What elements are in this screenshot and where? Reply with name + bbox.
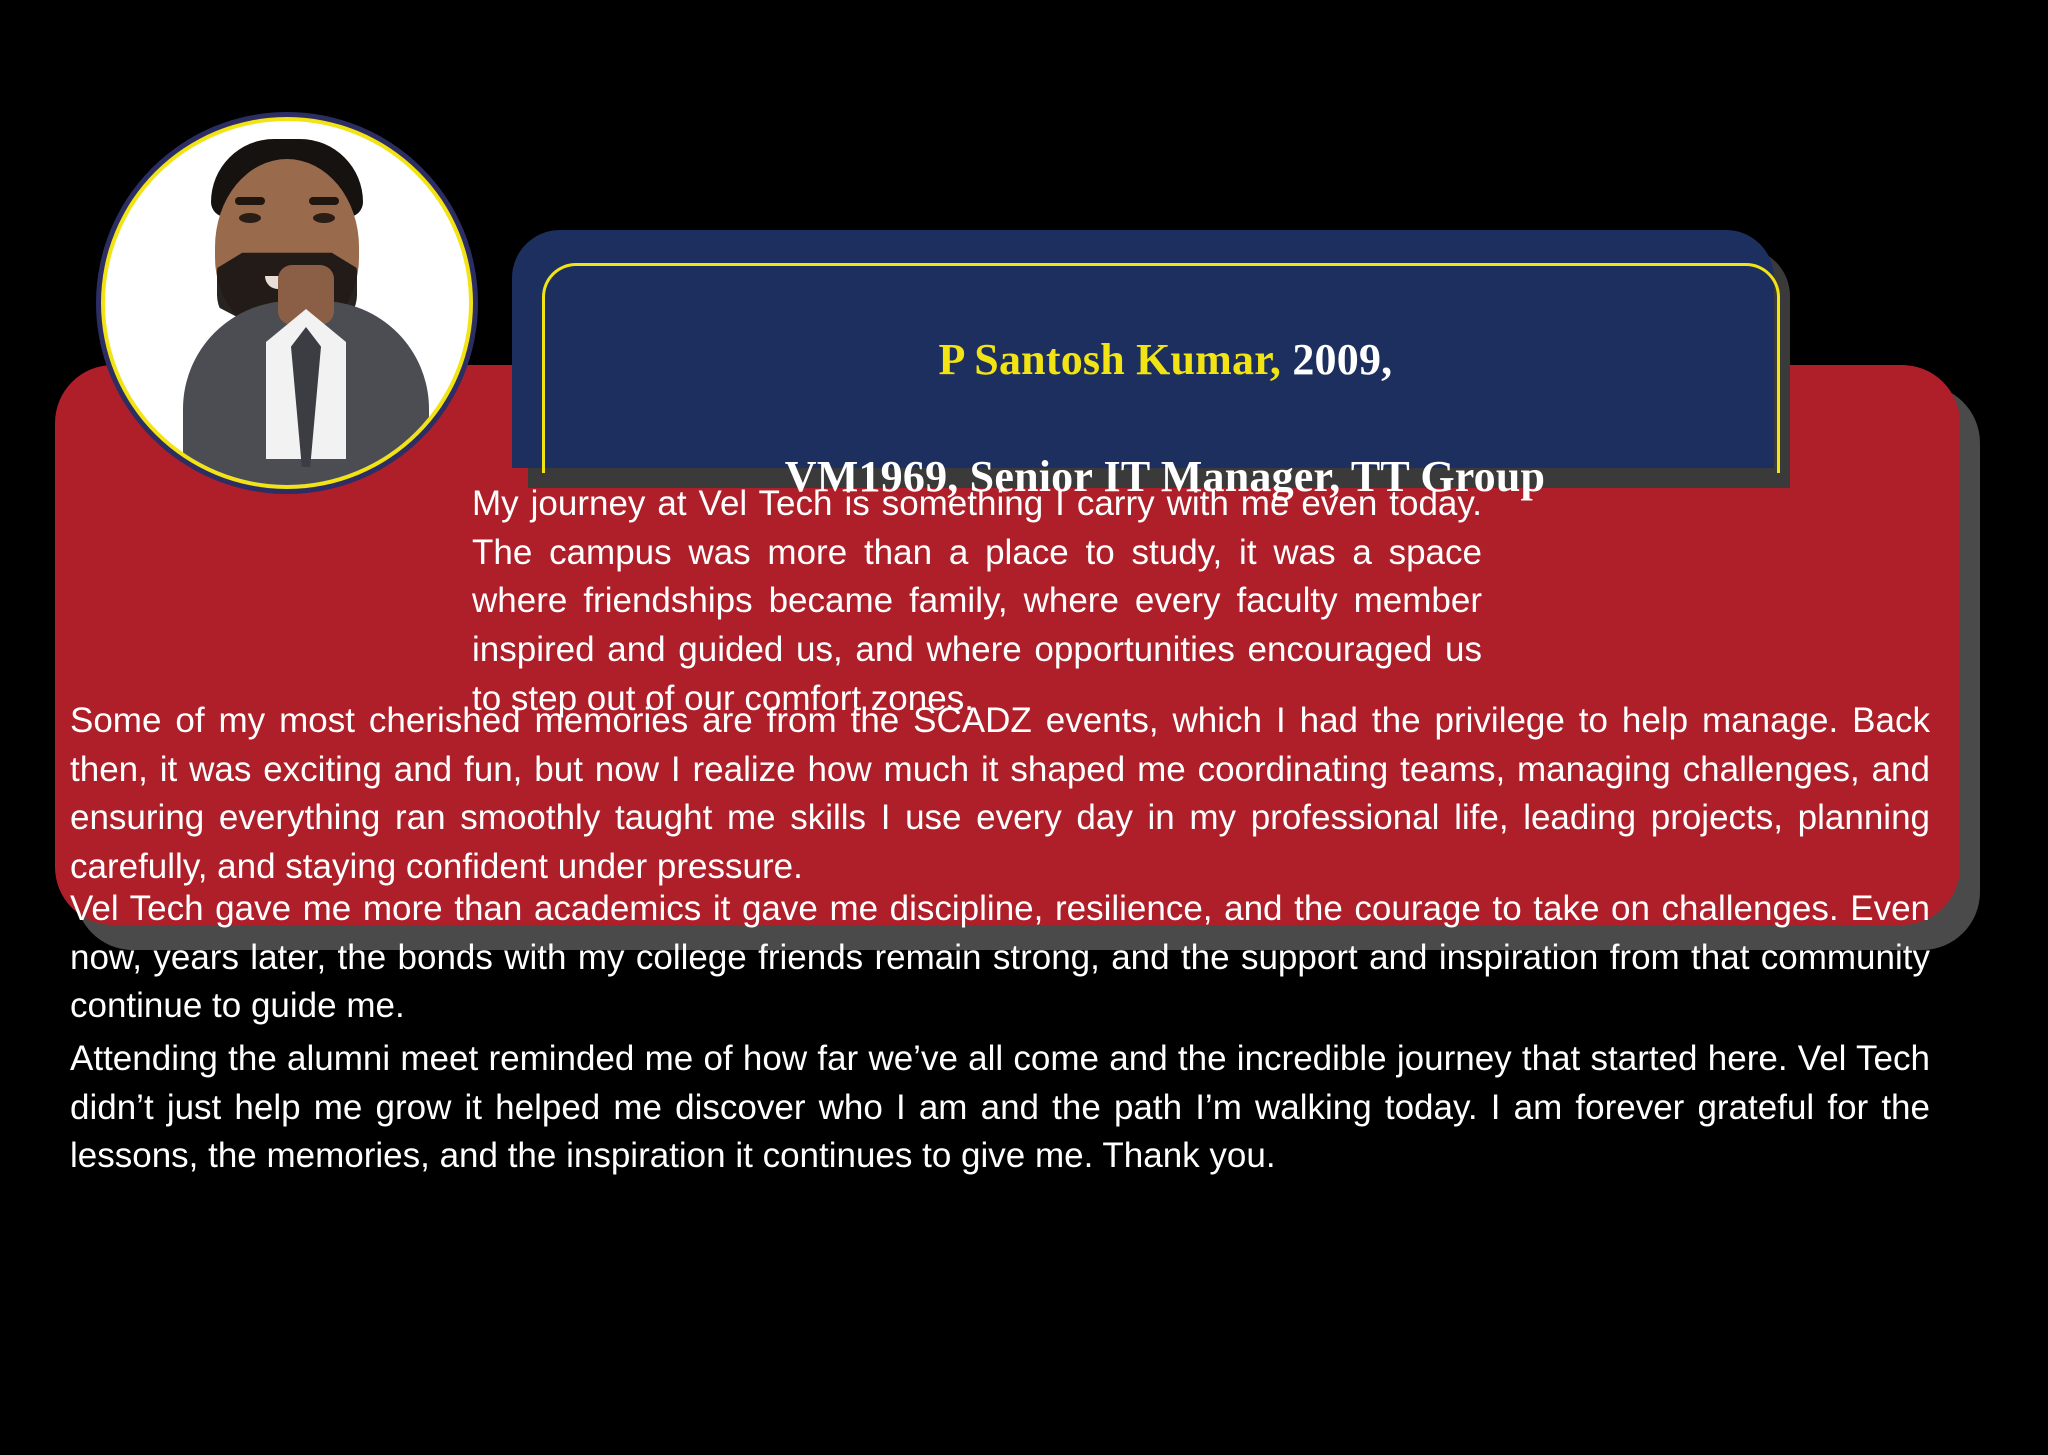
alumni-name: P Santosh Kumar,: [938, 335, 1281, 384]
testimonial-card-stage: P Santosh Kumar, 2009, VM1969, Senior IT…: [0, 0, 2048, 1455]
avatar: [96, 112, 478, 494]
testimonial-paragraph-3: Vel Tech gave me more than academics it …: [70, 885, 1930, 1031]
portrait-eye-left: [239, 213, 261, 223]
alumni-year: 2009,: [1281, 335, 1392, 384]
testimonial-paragraph-2: Some of my most cherished memories are f…: [70, 697, 1930, 892]
portrait-brow-left: [235, 197, 265, 205]
avatar-photo: [105, 121, 469, 485]
avatar-yellow-ring: [101, 117, 473, 489]
testimonial-paragraph-intro: My journey at Vel Tech is something I ca…: [472, 480, 1482, 723]
portrait-eye-right: [313, 213, 335, 223]
portrait-suit: [183, 301, 429, 485]
testimonial-paragraph-4: Attending the alumni meet reminded me of…: [70, 1035, 1930, 1181]
portrait-brow-right: [309, 197, 339, 205]
